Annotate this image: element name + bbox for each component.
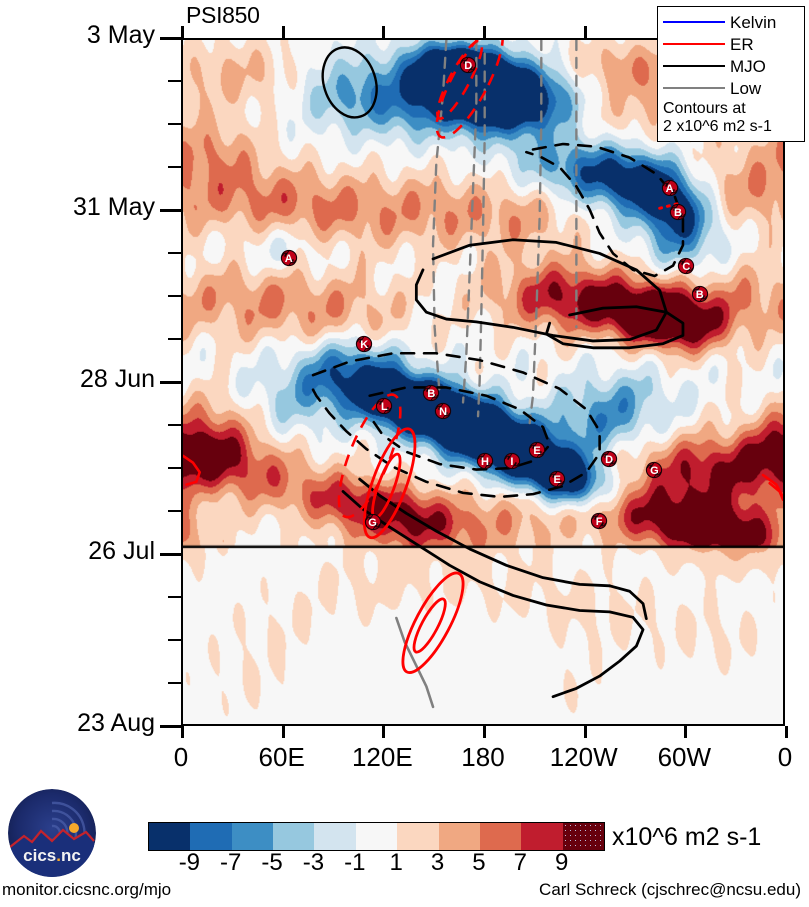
y-axis-tick-minor — [168, 166, 182, 168]
colorbar-segment — [273, 823, 314, 850]
storm-marker-d[interactable]: D — [457, 54, 479, 78]
legend-swatch-mjo — [663, 65, 725, 67]
page-title: PSI850 — [186, 2, 260, 29]
mjo-contour — [416, 240, 666, 341]
storm-marker-d[interactable]: D — [598, 448, 620, 472]
legend-entry-low: Low — [663, 77, 799, 99]
x-axis-label: 60E — [259, 742, 305, 773]
colorbar-tick-label: 9 — [555, 849, 568, 877]
colorbar-segment — [232, 823, 273, 850]
er-contour — [409, 595, 451, 655]
legend-note: Contours at 2 x10^6 m2 s-1 — [663, 100, 799, 136]
y-axis-label: 26 Jul — [0, 537, 155, 566]
legend-swatch-er — [663, 43, 725, 45]
low-contour — [530, 40, 542, 423]
y-axis-tick-minor — [168, 80, 182, 82]
x-axis-label: 60W — [658, 742, 711, 773]
legend-label: MJO — [730, 58, 766, 75]
colorbar-tick-label: 5 — [472, 849, 485, 877]
colorbar-tick-label: -1 — [344, 849, 365, 877]
colorbar-tick-label: 3 — [431, 849, 444, 877]
legend-label: Low — [730, 80, 761, 97]
x-axis-label: 0 — [174, 742, 188, 773]
colorbar-tick-label: -3 — [303, 849, 324, 877]
colorbar-segment — [439, 823, 480, 850]
colorbar-segment — [397, 823, 438, 850]
storm-marker-g[interactable]: G — [643, 459, 665, 483]
storm-marker-a[interactable]: A — [659, 177, 681, 201]
y-axis-label: 23 Aug — [0, 709, 155, 738]
x-axis-tick — [282, 726, 285, 738]
cicsnc-logo: cics.nc — [8, 789, 96, 877]
y-axis-tick-minor — [168, 295, 182, 297]
wave-contour-overlay — [183, 40, 783, 724]
y-axis-label: 3 May — [0, 21, 155, 50]
y-axis-tick-minor — [168, 252, 182, 254]
storm-marker-l[interactable]: L — [373, 395, 395, 419]
mjo-contour — [546, 307, 683, 348]
x-axis-tick-top — [382, 26, 385, 38]
legend-label: Kelvin — [730, 14, 776, 31]
x-axis-label: 180 — [461, 742, 504, 773]
x-axis-tick — [382, 726, 385, 738]
legend-entry-mjo: MJO — [663, 55, 799, 77]
low-contour — [463, 40, 476, 402]
y-axis-tick-major — [160, 381, 182, 384]
x-axis-tick — [684, 726, 687, 738]
storm-marker-c[interactable]: C — [675, 255, 697, 279]
x-axis-label: 120W — [550, 742, 618, 773]
storm-marker-n[interactable]: N — [432, 400, 454, 424]
svg-text:cics.nc: cics.nc — [23, 846, 81, 865]
legend-swatch-kelvin — [663, 21, 725, 23]
y-axis-tick-minor — [168, 682, 182, 684]
x-axis-tick-top — [282, 26, 285, 38]
storm-marker-a[interactable]: A — [278, 247, 300, 271]
y-axis-tick-minor — [168, 424, 182, 426]
storm-marker-i[interactable]: I — [501, 450, 523, 474]
y-axis-tick-minor — [168, 596, 182, 598]
colorbar-tick-label: 1 — [389, 849, 402, 877]
colorbar — [148, 822, 605, 851]
y-axis-tick-major — [160, 37, 182, 40]
y-axis-tick-major — [160, 725, 182, 728]
y-axis-tick-minor — [168, 123, 182, 125]
x-axis-tick — [483, 726, 486, 738]
y-axis-label: 28 Jun — [0, 365, 155, 394]
storm-marker-f[interactable]: F — [588, 510, 610, 534]
y-axis-tick-major — [160, 209, 182, 212]
colorbar-tick-label: -5 — [261, 849, 282, 877]
legend-entry-er: ER — [663, 33, 799, 55]
storm-marker-e[interactable]: E — [546, 468, 568, 492]
x-axis-tick-top — [584, 26, 587, 38]
storm-marker-g[interactable]: G — [362, 511, 384, 535]
y-axis-tick-minor — [168, 338, 182, 340]
er-contour — [183, 456, 200, 485]
site-url-label: monitor.cicsnc.org/mjo — [2, 880, 171, 900]
y-axis-tick-minor — [168, 467, 182, 469]
colorbar-tick-label: 7 — [514, 849, 527, 877]
colorbar-segment — [314, 823, 355, 850]
y-axis-label: 31 May — [0, 193, 155, 222]
er-contour — [392, 566, 474, 680]
storm-marker-e[interactable]: E — [526, 439, 548, 463]
storm-marker-b[interactable]: B — [667, 201, 689, 225]
legend-label: ER — [730, 36, 754, 53]
credit-label: Carl Schreck (cjschrec@ncsu.edu) — [539, 880, 801, 900]
storm-marker-k[interactable]: K — [353, 333, 375, 357]
x-axis-tick-top — [483, 26, 486, 38]
x-axis-label: 120E — [352, 742, 413, 773]
colorbar-segment — [480, 823, 521, 850]
legend-swatch-low — [663, 87, 725, 89]
colorbar-segment — [190, 823, 231, 850]
x-axis-tick — [181, 726, 184, 738]
colorbar-segment — [149, 823, 190, 850]
colorbar-segment — [521, 823, 562, 850]
storm-marker-h[interactable]: H — [474, 450, 496, 474]
colorbar-unit-label: x10^6 m2 s-1 — [612, 823, 761, 852]
y-axis-tick-minor — [168, 510, 182, 512]
contour-legend: KelvinERMJOLow Contours at 2 x10^6 m2 s-… — [657, 6, 805, 142]
mjo-contour — [314, 40, 385, 124]
y-axis-tick-major — [160, 553, 182, 556]
colorbar-tick-label: -9 — [179, 849, 200, 877]
x-axis-tick — [785, 726, 788, 738]
legend-entry-kelvin: Kelvin — [663, 11, 799, 33]
x-axis-label: 0 — [778, 742, 792, 773]
x-axis-tick-top — [181, 26, 184, 38]
x-axis-tick — [584, 726, 587, 738]
storm-marker-b[interactable]: B — [689, 283, 711, 307]
colorbar-tick-label: -7 — [220, 849, 241, 877]
colorbar-segment — [563, 823, 604, 850]
colorbar-segment — [356, 823, 397, 850]
y-axis-tick-minor — [168, 639, 182, 641]
